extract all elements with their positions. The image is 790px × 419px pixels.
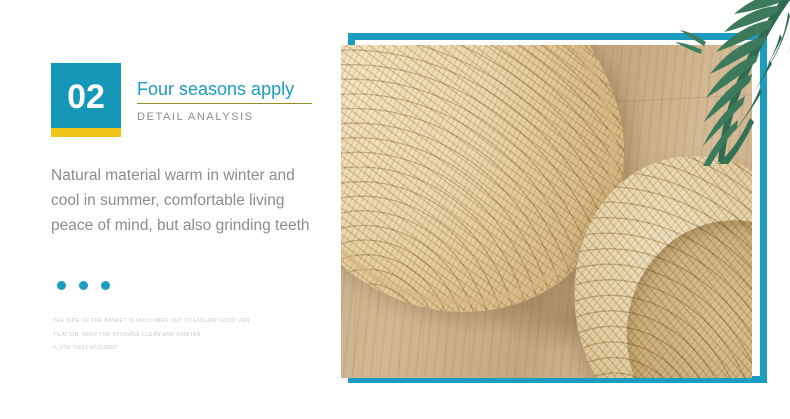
slide-root: 02 Four seasons apply DETAIL ANALYSIS Na… <box>0 0 790 419</box>
footnote-line-2: TILATION, KEEP THE STORAGE CLEAN AND SAN… <box>53 329 293 343</box>
dot-2-icon <box>79 281 88 290</box>
footnote-block: THE SIDE OF THE BASKET IS HOLLOWED OUT T… <box>53 315 293 356</box>
section-number: 02 <box>67 80 105 114</box>
dot-1-icon <box>57 281 66 290</box>
photo-basket-secondary <box>554 137 752 378</box>
dot-separator <box>57 281 110 290</box>
dot-3-icon <box>101 281 110 290</box>
title-underline <box>137 103 312 104</box>
section-number-badge: 02 <box>51 63 121 137</box>
product-photo <box>341 45 752 378</box>
footnote-line-3: Y, USE REST ASSURED <box>53 342 293 356</box>
badge-accent-bar <box>51 128 121 137</box>
photo-panel <box>341 28 766 388</box>
photo-weave-rings-secondary <box>554 137 752 378</box>
page-subtitle: DETAIL ANALYSIS <box>137 111 327 124</box>
body-paragraph: Natural material warm in winter and cool… <box>51 163 326 238</box>
page-title: Four seasons apply <box>137 78 327 100</box>
title-block: Four seasons apply DETAIL ANALYSIS <box>137 78 327 124</box>
footnote-line-1: THE SIDE OF THE BASKET IS HOLLOWED OUT T… <box>53 315 293 329</box>
text-column: 02 Four seasons apply DETAIL ANALYSIS Na… <box>0 0 340 419</box>
